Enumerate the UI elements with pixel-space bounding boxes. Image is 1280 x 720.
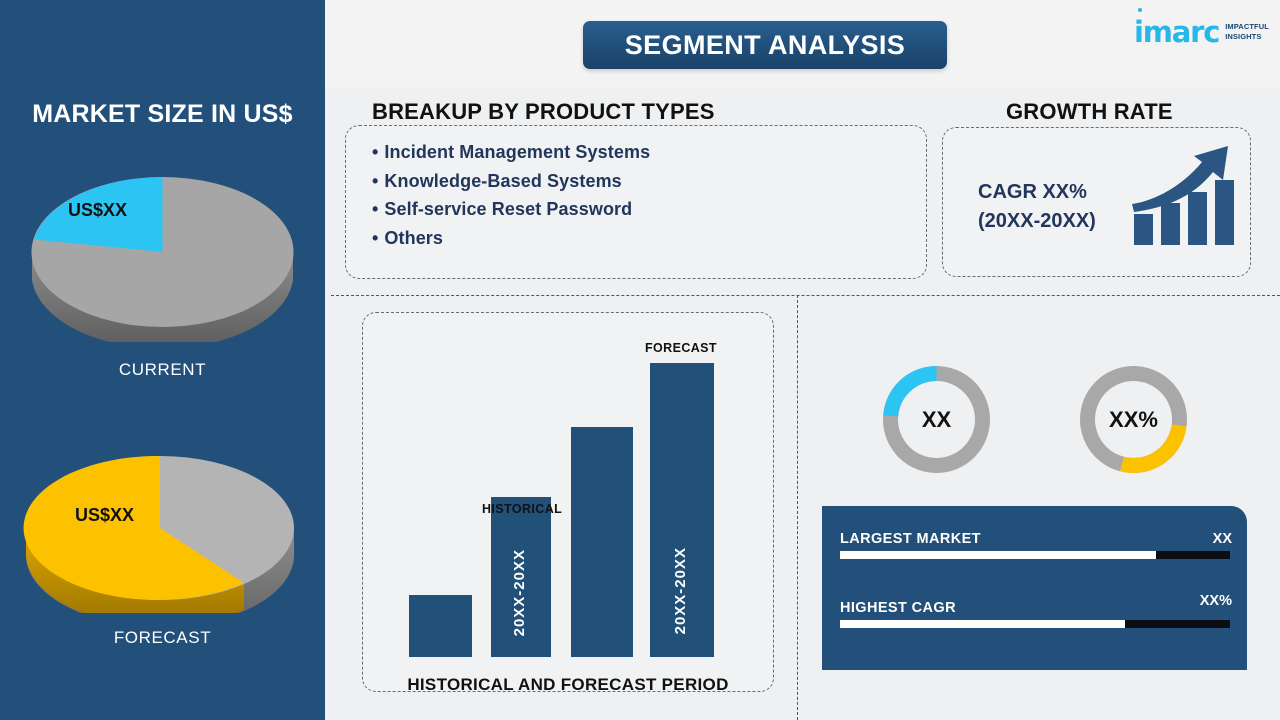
bullet-icon: • xyxy=(372,171,378,191)
highest-cagr-progress-fill xyxy=(840,620,1125,628)
market-share-donut-value: XX% xyxy=(1076,362,1191,477)
current-pie-value-label: US$XX xyxy=(68,200,127,221)
bullet-icon: • xyxy=(372,142,378,162)
highest-cagr-progress xyxy=(840,620,1230,628)
bar-4-label: 20XX-20XX xyxy=(672,547,689,634)
market-stats-panel: LARGEST MARKET XX HIGHEST CAGR XX% xyxy=(822,506,1247,670)
cagr-line-1: CAGR XX% xyxy=(978,178,1096,207)
cagr-text: CAGR XX% (20XX-20XX) xyxy=(978,178,1096,236)
list-item: •Self-service Reset Password xyxy=(372,195,912,224)
current-pie-caption: CURRENT xyxy=(0,360,325,380)
bar-2-label: 20XX-20XX xyxy=(511,549,528,636)
imarc-logo: imarc IMPACTFUL INSIGHTS xyxy=(1134,14,1264,50)
market-volume-donut: XX xyxy=(879,362,994,477)
market-size-panel: MARKET SIZE IN US$ US$XX CURRENT xyxy=(0,0,325,720)
list-item-label: Self-service Reset Password xyxy=(384,199,632,219)
horizontal-divider xyxy=(331,295,1280,296)
forecast-market-size-pie: US$XX xyxy=(22,443,298,613)
page-title-text: SEGMENT ANALYSIS xyxy=(625,30,905,61)
imarc-logo-dot xyxy=(1138,8,1142,12)
largest-market-progress xyxy=(840,551,1230,559)
imarc-tagline-line2: INSIGHTS xyxy=(1225,32,1269,42)
imarc-logo-tagline: IMPACTFUL INSIGHTS xyxy=(1225,22,1269,42)
product-type-list: •Incident Management Systems •Knowledge-… xyxy=(372,138,912,252)
current-pie-svg xyxy=(30,162,295,342)
bullet-icon: • xyxy=(372,228,378,248)
imarc-tagline-line1: IMPACTFUL xyxy=(1225,22,1269,32)
forecast-pie-value-label: US$XX xyxy=(75,505,134,526)
forecast-annotation: FORECAST xyxy=(645,341,717,355)
bar-4: 20XX-20XX xyxy=(650,363,714,657)
list-item: •Knowledge-Based Systems xyxy=(372,167,912,196)
market-volume-donut-value: XX xyxy=(879,362,994,477)
cagr-line-2: (20XX-20XX) xyxy=(978,207,1096,236)
list-item-label: Knowledge-Based Systems xyxy=(384,171,621,191)
forecast-pie-svg xyxy=(22,443,298,613)
market-size-title: MARKET SIZE IN US$ xyxy=(0,100,325,129)
segment-analysis-infographic: MARKET SIZE IN US$ US$XX CURRENT xyxy=(0,0,1280,720)
forecast-pie-caption: FORECAST xyxy=(0,628,325,648)
bar-2: 20XX-20XX xyxy=(491,497,551,657)
bar-1 xyxy=(409,595,472,657)
list-item: •Others xyxy=(372,224,912,253)
bar-chart-caption: HISTORICAL AND FORECAST PERIOD xyxy=(378,675,758,695)
imarc-logo-wordmark: imarc xyxy=(1134,18,1219,47)
historical-annotation: HISTORICAL xyxy=(482,502,562,516)
highest-cagr-value: XX% xyxy=(1152,593,1232,609)
largest-market-label: LARGEST MARKET xyxy=(840,531,981,547)
list-item-label: Others xyxy=(384,228,443,248)
breakup-section-title: BREAKUP BY PRODUCT TYPES xyxy=(372,99,715,125)
list-item-label: Incident Management Systems xyxy=(384,142,650,162)
vertical-divider xyxy=(797,295,798,720)
highest-cagr-label: HIGHEST CAGR xyxy=(840,600,956,616)
growth-arrow-bars-icon xyxy=(1128,142,1238,247)
bullet-icon: • xyxy=(372,199,378,219)
largest-market-value: XX xyxy=(1152,531,1232,547)
current-market-size-pie: US$XX xyxy=(30,162,295,342)
growth-rate-title: GROWTH RATE xyxy=(1006,99,1173,125)
page-title: SEGMENT ANALYSIS xyxy=(583,21,947,69)
market-share-donut: XX% xyxy=(1076,362,1191,477)
largest-market-progress-fill xyxy=(840,551,1156,559)
bar-3 xyxy=(571,427,633,657)
historical-forecast-bar-chart: 20XX-20XX HISTORICAL 20XX-20XX FORECAST xyxy=(360,310,775,710)
list-item: •Incident Management Systems xyxy=(372,138,912,167)
